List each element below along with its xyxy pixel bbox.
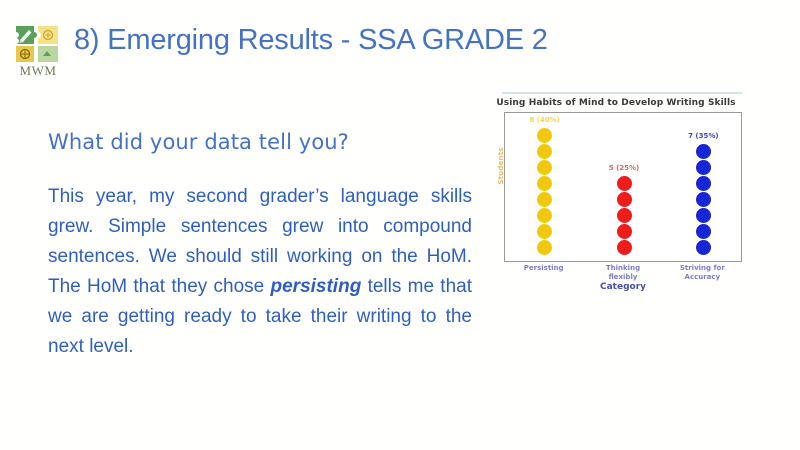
puzzle-pieces-icon xyxy=(14,24,60,64)
emphasised-text: persisting xyxy=(271,276,362,297)
chart-title: Using Habits of Mind to Develop Writing … xyxy=(480,98,752,108)
chart-data-dot xyxy=(696,208,711,223)
chart-value-label: 5 (25%) xyxy=(579,164,669,172)
presentation-slide: MWM 8) Emerging Results - SSA GRADE 2 Wh… xyxy=(0,0,800,450)
chart-data-dot xyxy=(537,128,552,143)
chart-series-column: 8 (40%) xyxy=(513,127,577,255)
chart-data-dot xyxy=(617,176,632,191)
chart-data-dot xyxy=(696,192,711,207)
chart-series-column: 5 (25%) xyxy=(592,175,656,255)
page-title: 8) Emerging Results - SSA GRADE 2 xyxy=(74,24,548,57)
chart-container: Using Habits of Mind to Develop Writing … xyxy=(480,92,752,297)
chart-data-dot xyxy=(537,144,552,159)
chart-data-dot xyxy=(696,240,711,255)
chart-data-dot xyxy=(696,144,711,159)
chart-data-dot xyxy=(537,192,552,207)
chart-data-dot xyxy=(617,208,632,223)
chart-data-dot xyxy=(617,192,632,207)
chart-category-label: Thinkingflexibly xyxy=(587,264,659,281)
chart-top-rule xyxy=(502,92,742,94)
chart-data-dot xyxy=(537,208,552,223)
chart-value-label: 7 (35%) xyxy=(658,132,748,140)
chart-category-label: Persisting xyxy=(508,264,580,273)
chart-data-dot xyxy=(537,240,552,255)
chart-data-dot xyxy=(617,224,632,239)
chart-series-column: 7 (35%) xyxy=(671,143,735,255)
chart-data-dot xyxy=(537,176,552,191)
chart-data-dot xyxy=(537,224,552,239)
body-paragraph: This year, my second grader’s language s… xyxy=(48,182,472,362)
chart-plot-area: 8 (40%)5 (25%)7 (35%) xyxy=(504,112,742,262)
section-question: What did your data tell you? xyxy=(48,130,349,154)
chart-x-axis-label: Category xyxy=(504,282,742,292)
chart-category-label: Striving forAccuracy xyxy=(666,264,738,281)
chart-data-dot xyxy=(696,224,711,239)
chart-data-dot xyxy=(617,240,632,255)
chart-data-dot xyxy=(696,160,711,175)
chart-value-label: 8 (40%) xyxy=(500,116,590,124)
chart-data-dot xyxy=(696,176,711,191)
chart-data-dot xyxy=(537,160,552,175)
logo-wordmark: MWM xyxy=(15,64,61,78)
mwm-logo: MWM xyxy=(14,24,62,80)
